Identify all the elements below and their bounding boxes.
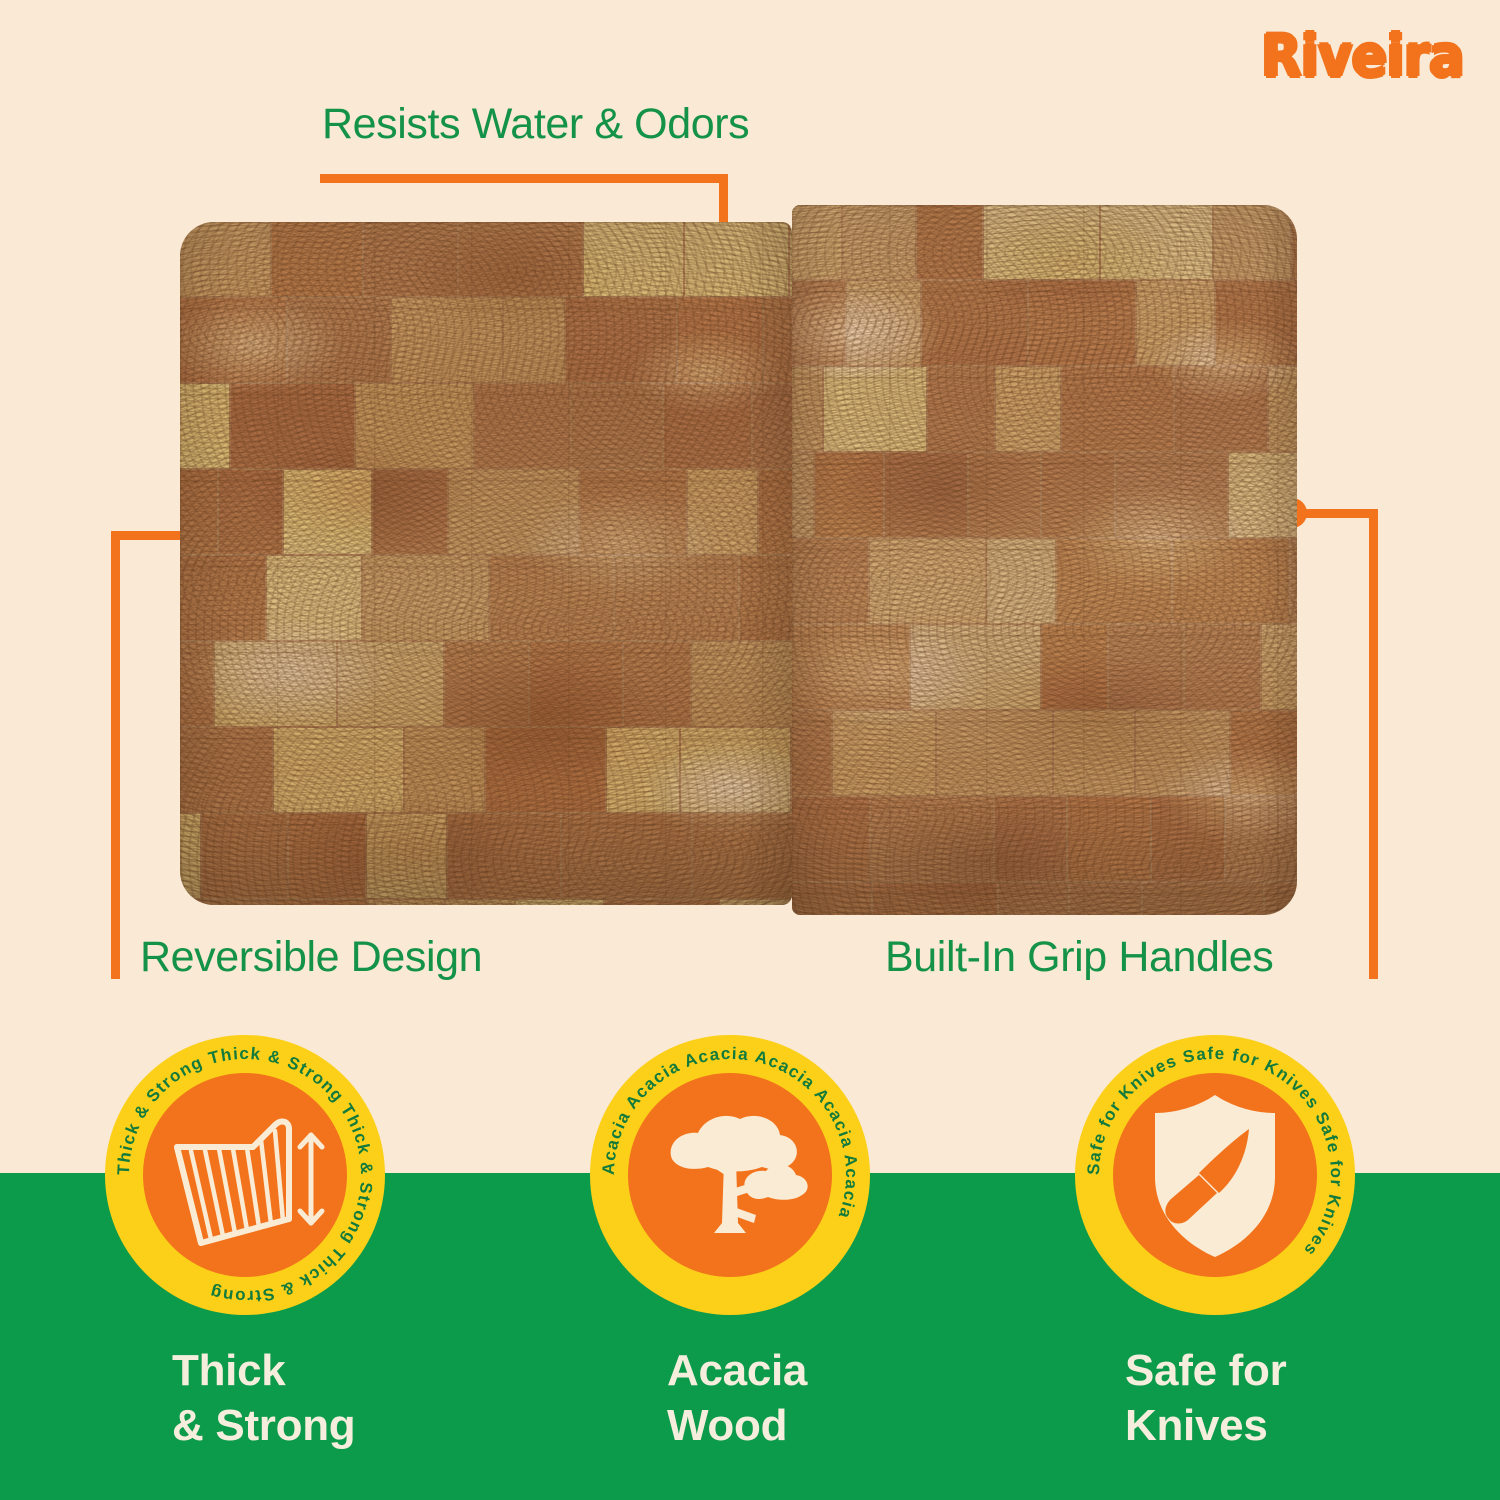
board-thickness-icon (143, 1073, 347, 1277)
badge-caption-thick-strong: Thick & Strong (172, 1343, 355, 1453)
brand-logo: Riveira (1261, 27, 1464, 85)
callout-line-left-vertical (111, 531, 120, 979)
badge-acacia-wood: Acacia Acacia Acacia Acacia Acacia Acaci… (590, 1035, 870, 1315)
wood-shading (180, 222, 792, 905)
badge-caption-acacia-wood: Acacia Wood (667, 1343, 807, 1453)
callout-label-resists-water-odors: Resists Water & Odors (322, 103, 749, 146)
cutting-board-left (180, 222, 792, 905)
badge-thick-strong: Thick & Strong Thick & Strong Thick & St… (105, 1035, 385, 1315)
callout-label-built-in-grip-handles: Built-In Grip Handles (885, 936, 1273, 979)
badge-safe-for-knives: Safe for Knives Safe for Knives Safe for… (1075, 1035, 1355, 1315)
callout-label-reversible-design: Reversible Design (140, 936, 482, 979)
wood-shading (792, 205, 1297, 915)
callout-line-top-horizontal (320, 174, 728, 183)
callout-line-right-vertical (1369, 509, 1378, 979)
badge-caption-safe-for-knives: Safe for Knives (1125, 1343, 1286, 1453)
cutting-board-right (792, 205, 1297, 915)
acacia-tree-icon (628, 1073, 832, 1277)
infographic-canvas: Riveira Resists Water & Odors Reversible… (0, 0, 1500, 1500)
shield-knife-icon (1113, 1073, 1317, 1277)
